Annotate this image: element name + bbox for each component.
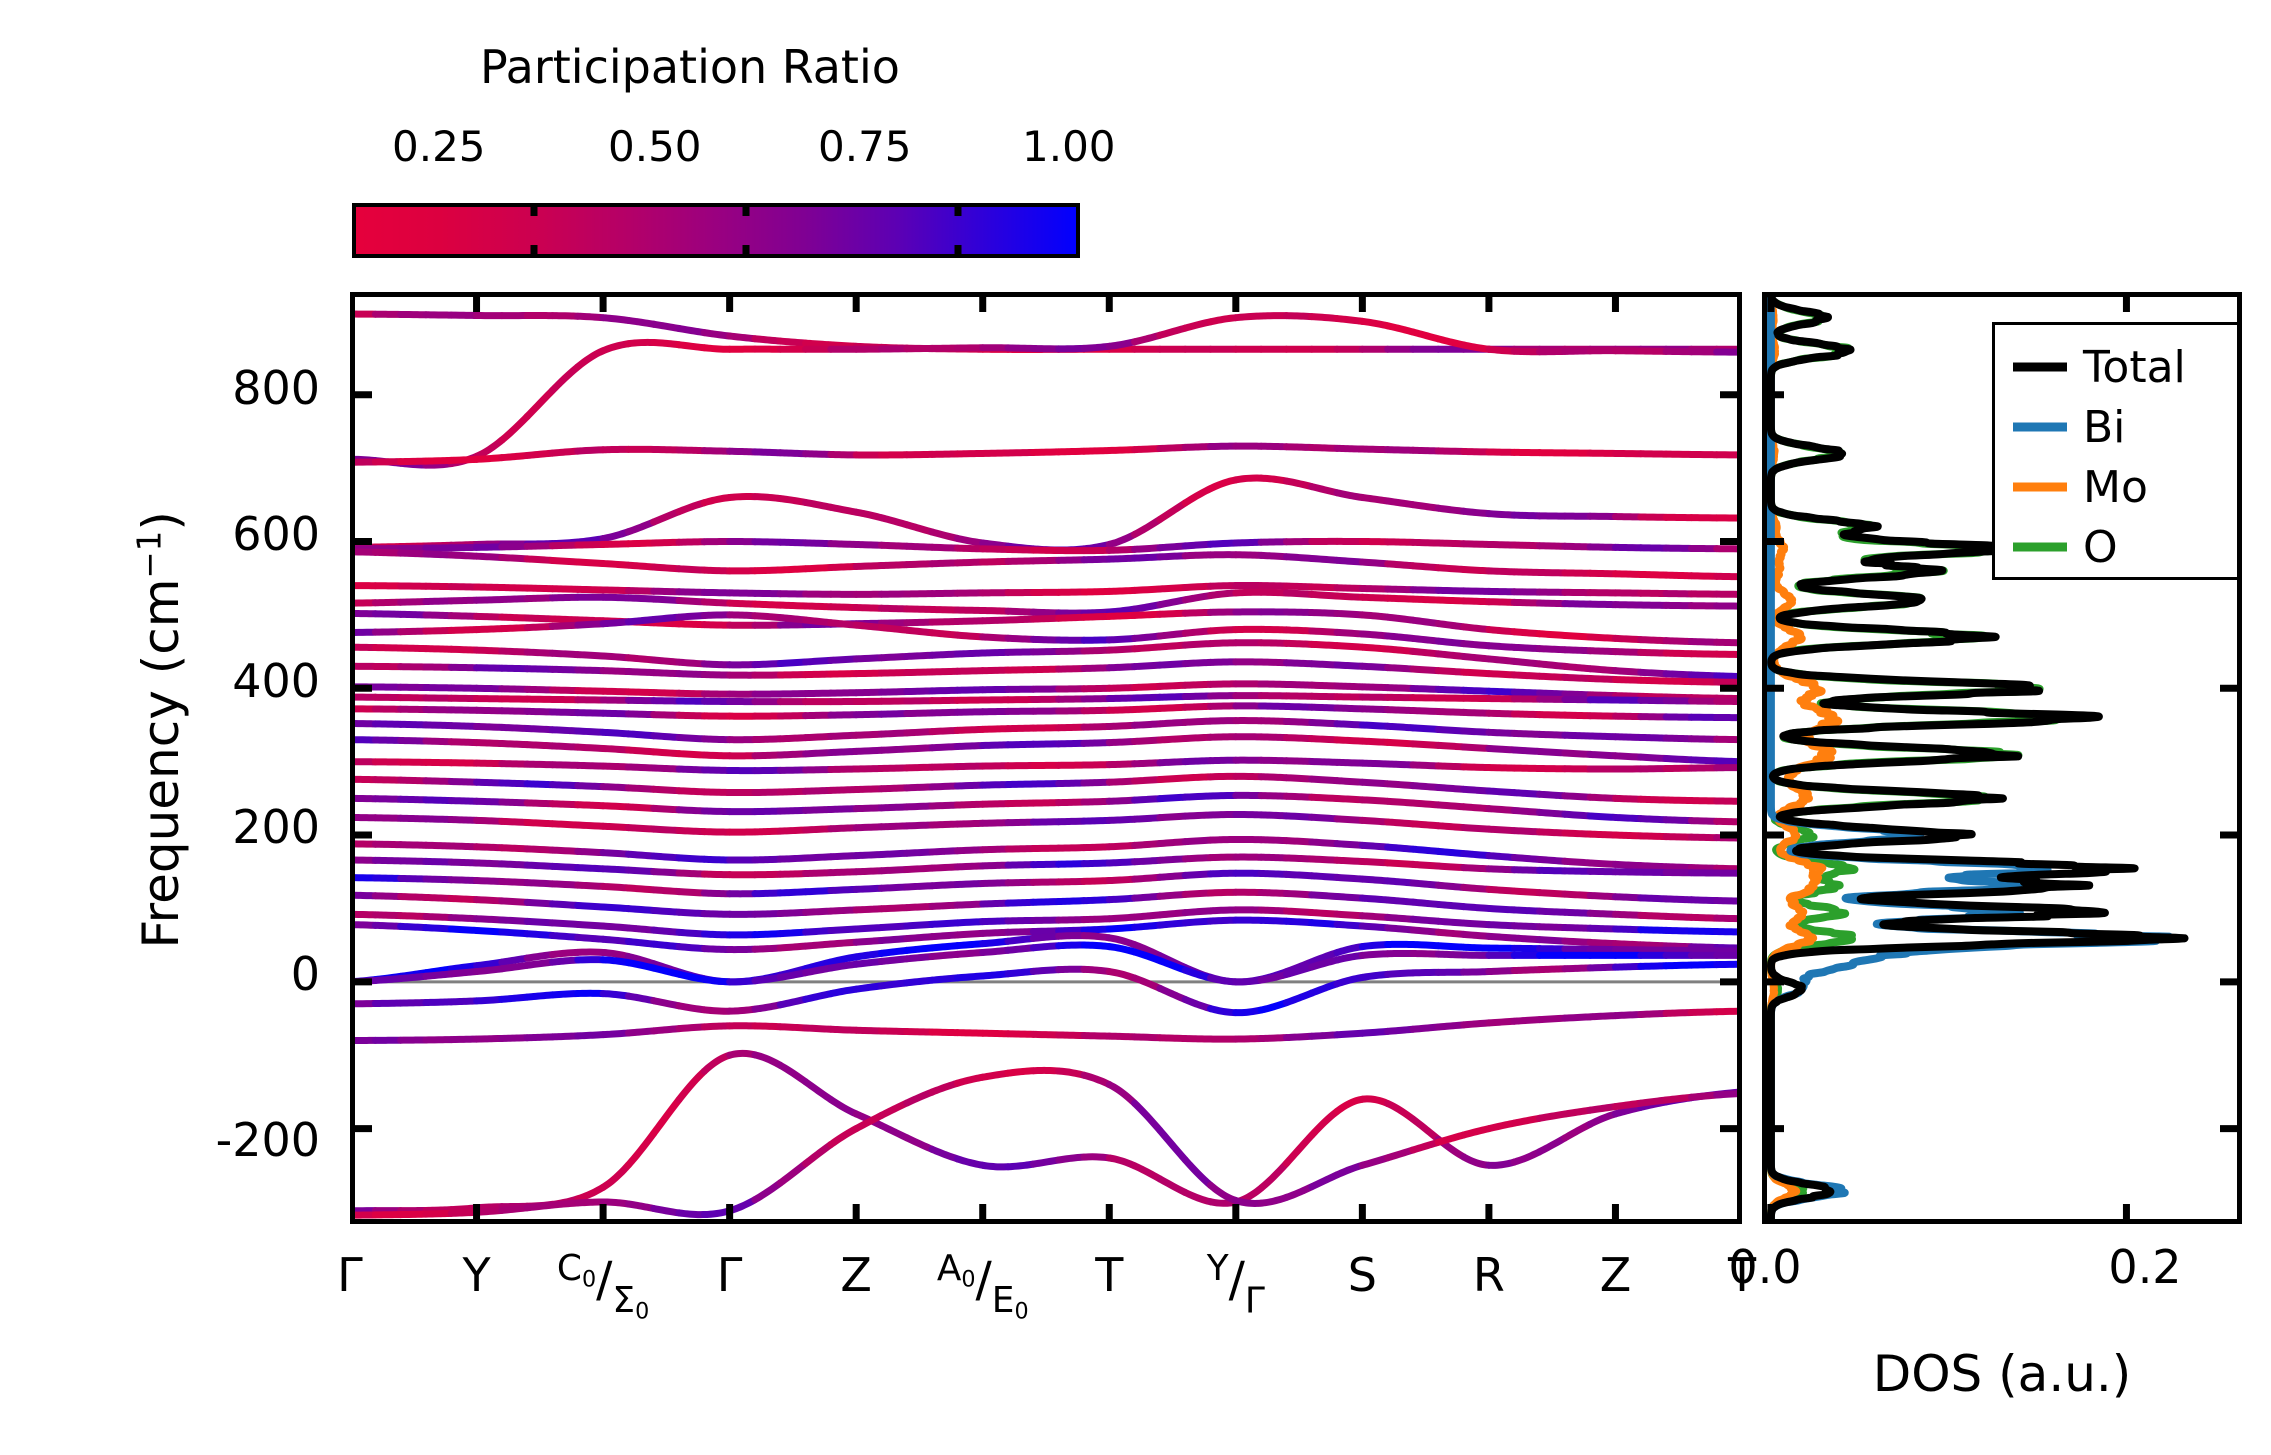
phonon-band-segment: [1059, 348, 1084, 349]
phonon-band-segment: [1489, 791, 1514, 793]
phonon-band-segment: [552, 451, 577, 453]
phonon-band-segment: [932, 1032, 957, 1033]
dos-x-tick-label-1: 0.2: [2060, 1240, 2230, 1294]
phonon-band-segment: [1286, 586, 1311, 587]
phonon-band-segment: [1388, 1104, 1413, 1120]
phonon-band-segment: [502, 783, 527, 784]
phonon-band-segment: [578, 562, 603, 564]
phonon-band-segment: [1084, 881, 1109, 882]
phonon-band-segment: [1286, 841, 1311, 842]
phonon-band-segment: [654, 829, 679, 830]
phonon-band-segment: [1109, 800, 1134, 801]
phonon-band-segment: [477, 458, 502, 460]
phonon-band-segment: [932, 610, 957, 611]
phonon-band-segment: [806, 809, 831, 810]
phonon-band-segment: [1362, 687, 1387, 688]
phonon-band-segment: [881, 950, 906, 953]
phonon-band-segment: [1615, 756, 1640, 757]
phonon-band-segment: [1109, 1158, 1134, 1166]
phonon-band-segment: [881, 749, 906, 750]
phonon-band-segment: [1464, 887, 1489, 889]
phonon-band-segment: [451, 862, 476, 863]
phonon-band-segment: [831, 872, 856, 873]
phonon-band-segment: [1362, 647, 1387, 649]
phonon-band-segment: [1084, 801, 1109, 802]
phonon-band-segment: [831, 989, 856, 993]
phonon-band-segment: [1109, 862, 1134, 863]
phonon-band-segment: [1033, 618, 1058, 619]
phonon-band-segment: [780, 932, 805, 933]
phonon-band-segment: [1489, 1021, 1514, 1023]
phonon-band-segment: [1337, 1033, 1362, 1035]
phonon-band-segment: [1666, 965, 1691, 966]
phonon-band-segment: [654, 324, 679, 328]
phonon-band-segment: [704, 874, 729, 875]
phonon-band-segment: [401, 740, 426, 741]
phonon-band-segment: [1185, 1039, 1210, 1040]
phonon-band-segment: [1312, 685, 1337, 686]
phonon-band-segment: [1261, 857, 1286, 858]
phonon-band-segment: [1641, 836, 1666, 837]
phonon-band-segment: [755, 452, 780, 453]
phonon-band-segment: [1008, 638, 1033, 639]
phonon-band-segment: [1185, 322, 1210, 328]
phonon-band-segment: [1540, 940, 1565, 941]
phonon-band-segment: [1438, 508, 1463, 511]
phonon-band-segment: [654, 768, 679, 769]
phonon-band-segment: [1160, 894, 1185, 896]
phonon-band-segment: [1388, 881, 1413, 883]
phonon-band-segment: [1438, 932, 1463, 934]
phonon-band-segment: [1514, 926, 1539, 927]
phonon-band-segment: [1590, 736, 1615, 737]
phonon-band-segment: [881, 983, 906, 986]
phonon-band-segment: [1033, 931, 1058, 932]
phonon-band-segment: [1084, 616, 1109, 617]
phonon-band-segment: [679, 791, 704, 792]
phonon-band-segment: [477, 1038, 502, 1039]
phonon-band-segment: [527, 955, 552, 959]
phonon-band-segment: [1666, 930, 1691, 931]
phonon-band-segment: [1059, 1157, 1084, 1160]
phonon-band-segment: [1464, 947, 1489, 948]
phonon-band-segment: [1388, 900, 1413, 902]
phonon-band-segment: [957, 653, 982, 654]
phonon-band-segment: [1464, 828, 1489, 830]
phonon-band-segment: [1615, 696, 1640, 697]
phonon-band-segment: [1565, 928, 1590, 929]
phonon-band-segment: [983, 561, 1008, 562]
phonon-band-segment: [1109, 917, 1134, 919]
phonon-band-segment: [1160, 645, 1185, 647]
phonon-band-segment: [426, 554, 451, 555]
phonon-band-segment: [1464, 868, 1489, 869]
phonon-band-segment: [679, 1027, 704, 1029]
phonon-band-segment: [856, 961, 881, 964]
phonon-band-segment: [983, 932, 1008, 933]
phonon-band-segment: [831, 942, 856, 944]
phonon-band-segment: [831, 544, 856, 545]
colorbar[interactable]: [352, 203, 1080, 258]
phonon-band-segment: [1413, 954, 1438, 955]
phonon-band-segment: [1514, 351, 1539, 352]
phonon-band-segment: [1312, 842, 1337, 844]
legend-item-mo[interactable]: Mo: [2009, 457, 2186, 517]
phonon-band-segment: [628, 658, 653, 660]
phonon-band-segment: [1109, 549, 1134, 550]
phonon-band-segment: [1565, 833, 1590, 834]
phonon-band-segment: [1514, 891, 1539, 893]
phonon-band-segment: [1438, 339, 1463, 345]
phonon-band-segment: [578, 589, 603, 590]
phonon-band-segment: [704, 811, 729, 812]
phonon-band-segment: [527, 902, 552, 904]
phonon-band-segment: [679, 674, 704, 675]
phonon-band-segment: [907, 948, 932, 951]
phonon-band-segment: [1059, 936, 1084, 937]
legend-item-bi[interactable]: Bi: [2009, 397, 2186, 457]
phonon-band-segment: [654, 872, 679, 873]
phonon-band-segment: [755, 913, 780, 914]
phonon-band-segment: [932, 851, 957, 852]
phonon-band-segment: [1590, 1107, 1615, 1111]
phonon-band-segment: [654, 660, 679, 662]
phonon-band-segment: [1084, 743, 1109, 744]
phonon-band-segment: [881, 959, 906, 962]
phonon-band-segment: [1109, 558, 1134, 559]
phonon-band-segment: [1008, 744, 1033, 745]
phonon-band-segment: [957, 766, 982, 767]
phonon-band-segment: [527, 669, 552, 670]
phonon-band-segment: [831, 607, 856, 608]
phonon-band-segment: [679, 912, 704, 913]
phonon-band-segment: [401, 916, 426, 917]
phonon-band-segment: [1160, 762, 1185, 763]
phonon-band-segment: [527, 745, 552, 746]
phonon-band-segment: [578, 655, 603, 656]
phonon-band-segment: [1438, 954, 1463, 955]
phonon-band-segment: [780, 618, 805, 620]
phonon-band-segment: [907, 622, 932, 623]
phonon-band-segment: [477, 629, 502, 630]
phonon-band-segment: [1008, 1071, 1033, 1073]
phonon-band-segment: [1135, 449, 1160, 450]
phonon-band-segment: [1362, 926, 1387, 928]
phonon-band-segment: [983, 1033, 1008, 1034]
phonon-band-segment: [704, 348, 729, 349]
phonon-band-segment: [1185, 893, 1210, 894]
phonon-band-segment: [831, 1129, 856, 1145]
phonon-band-segment: [1464, 923, 1489, 925]
phonon-band-segment: [1185, 721, 1210, 722]
phonon-band-segment: [628, 1031, 653, 1033]
phonon-band-segment: [856, 512, 881, 518]
phonon-band-segment: [1514, 733, 1539, 734]
phonon-band-segment: [1464, 712, 1489, 713]
phonon-band-segment: [654, 567, 679, 569]
phonon-band-segment: [1438, 826, 1463, 828]
phonon-band-segment: [1438, 568, 1463, 570]
phonon-band-segment: [907, 886, 932, 887]
phonon-band-segment: [1691, 900, 1716, 901]
phonon-band-segment: [1135, 877, 1160, 879]
phonon-band-segment: [1362, 898, 1387, 900]
phonon-band-segment: [1388, 688, 1413, 689]
phonon-band-segment: [1312, 1035, 1337, 1036]
phonon-band-segment: [1160, 816, 1185, 818]
phonon-band-segment: [1464, 627, 1489, 630]
phonon-band-segment: [1438, 766, 1463, 767]
phonon-band-segment: [1286, 874, 1311, 875]
phonon-band-segment: [1109, 927, 1134, 929]
phonon-band-segment: [1211, 593, 1236, 596]
phonon-band-segment: [1185, 840, 1210, 842]
phonon-band-segment: [1362, 861, 1387, 862]
phonon-band-segment: [679, 624, 704, 625]
band-structure-panel[interactable]: [350, 292, 1742, 1224]
phonon-band-segment: [603, 787, 628, 788]
phonon-band-segment: [780, 999, 805, 1005]
phonon-band-segment: [1286, 663, 1311, 664]
phonon-band-segment: [502, 821, 527, 822]
phonon-band-segment: [552, 765, 577, 766]
phonon-band-segment: [375, 896, 400, 897]
phonon-band-segment: [1286, 858, 1311, 859]
phonon-band-segment: [1540, 715, 1565, 716]
phonon-band-segment: [628, 807, 653, 808]
phonon-band-segment: [477, 820, 502, 821]
phonon-band-segment: [1084, 451, 1109, 452]
phonon-band-segment: [1590, 1016, 1615, 1017]
phonon-band-segment: [1388, 668, 1413, 669]
phonon-band-segment: [1489, 971, 1514, 972]
phonon-band-segment: [654, 736, 679, 738]
phonon-band-segment: [1261, 1038, 1286, 1039]
phonon-band-segment: [654, 343, 679, 345]
phonon-band-segment: [831, 751, 856, 752]
phonon-band-segment: [628, 714, 653, 715]
phonon-band-segment: [1337, 860, 1362, 861]
phonon-band-segment: [983, 974, 1008, 976]
dos-curve-mo: [1771, 292, 1838, 1224]
phonon-band-segment: [1388, 928, 1413, 930]
phonon-band-segment: [375, 614, 400, 615]
phonon-band-segment: [1059, 727, 1084, 728]
phonon-band-segment: [502, 689, 527, 690]
phonon-band-segment: [1135, 799, 1160, 800]
phonon-band-segment: [1008, 561, 1033, 562]
phonon-band-segment: [1615, 944, 1640, 945]
phonon-band-segment: [704, 1211, 729, 1215]
phonon-band-segment: [1413, 765, 1438, 766]
phonon-band-segment: [654, 449, 679, 450]
legend-label-mo: Mo: [2083, 462, 2148, 513]
phonon-band-segment: [1362, 321, 1387, 325]
phonon-band-segment: [957, 729, 982, 730]
phonon-band-segment: [932, 923, 957, 924]
phonon-band-segment: [1185, 544, 1210, 546]
phonon-band-segment: [527, 652, 552, 653]
phonon-band-segment: [932, 633, 957, 635]
phonon-band-segment: [603, 960, 628, 963]
phonon-band-segment: [755, 616, 780, 618]
phonon-band-segment: [881, 628, 906, 631]
phonon-band-segment: [806, 930, 831, 932]
phonon-band-segment: [628, 870, 653, 871]
phonon-band-segment: [451, 820, 476, 821]
phonon-band-segment: [1641, 819, 1666, 820]
phonon-band-segment: [1641, 866, 1666, 867]
phonon-band-segment: [1413, 688, 1438, 689]
phonon-band-segment: [1337, 319, 1362, 322]
phonon-band-segment: [1362, 449, 1387, 450]
phonon-band-segment: [1641, 930, 1666, 931]
phonon-band-segment: [1185, 596, 1210, 600]
phonon-band-segment: [1438, 729, 1463, 731]
phonon-band-segment: [1033, 1070, 1058, 1071]
phonon-band-segment: [1362, 666, 1387, 667]
phonon-band-segment: [1590, 651, 1615, 652]
phonon-band-segment: [1109, 879, 1134, 880]
phonon-band-segment: [1514, 793, 1539, 795]
phonon-band-segment: [932, 767, 957, 768]
phonon-band-segment: [1388, 617, 1413, 620]
phonon-band-segment: [1362, 820, 1387, 822]
phonon-band-segment: [679, 503, 704, 512]
phonon-band-segment: [1160, 859, 1185, 860]
phonon-band-segment: [628, 928, 653, 930]
phonon-band-segment: [831, 507, 856, 512]
phonon-band-segment: [1211, 1009, 1236, 1013]
phonon-band-segment: [628, 522, 653, 532]
phonon-band-segment: [477, 919, 502, 920]
phonon-band-segment: [1185, 696, 1210, 697]
phonon-band-segment: [1160, 797, 1185, 798]
phonon-band-segment: [502, 997, 527, 999]
phonon-band-segment: [1489, 748, 1514, 749]
phonon-band-segment: [1059, 802, 1084, 803]
phonon-band-segment: [730, 497, 755, 498]
phonon-band-segment: [1059, 1071, 1084, 1075]
phonon-band-segment: [856, 734, 881, 735]
legend-item-total[interactable]: Total: [2009, 337, 2186, 397]
phonon-band-segment: [907, 924, 932, 926]
phonon-band-segment: [1109, 725, 1134, 726]
phonon-band-segment: [856, 658, 881, 659]
phonon-band-segment: [831, 828, 856, 829]
phonon-band-segment: [679, 769, 704, 770]
phonon-band-segment: [451, 1001, 476, 1002]
phonon-band-segment: [502, 901, 527, 902]
phonon-band-segment: [426, 819, 451, 820]
phonon-band-segment: [856, 909, 881, 910]
phonon-band-segment: [527, 962, 552, 965]
phonon-band-segment: [932, 885, 957, 886]
phonon-band-segment: [679, 873, 704, 874]
phonon-band-segment: [1135, 647, 1160, 649]
phonon-band-segment: [1438, 745, 1463, 747]
phonon-band-segment: [451, 918, 476, 919]
phonon-band-segment: [957, 562, 982, 563]
phonon-band-segment: [426, 615, 451, 616]
phonon-band-segment: [1413, 919, 1438, 921]
phonon-band-segment: [578, 450, 603, 451]
phonon-band-segment: [1438, 851, 1463, 853]
phonon-band-segment: [1540, 870, 1565, 871]
phonon-band-segment: [477, 726, 502, 727]
phonon-band-segment: [1261, 796, 1286, 797]
phonon-band-segment: [1464, 767, 1489, 768]
phonon-band-segment: [704, 1055, 729, 1071]
phonon-band-segment: [527, 995, 552, 997]
phonon-band-segment: [1312, 723, 1337, 724]
legend-item-o[interactable]: O: [2009, 517, 2186, 577]
phonon-band-segment: [932, 978, 957, 980]
phonon-band-segment: [1388, 726, 1413, 728]
phonon-band-segment: [932, 935, 957, 937]
phonon-band-segment: [502, 764, 527, 765]
phonon-band-segment: [1413, 803, 1438, 805]
phonon-band-segment: [1337, 613, 1362, 614]
phonon-band-segment: [1413, 864, 1438, 866]
phonon-band-segment: [932, 805, 957, 806]
phonon-band-segment: [831, 735, 856, 736]
phonon-band-segment: [628, 788, 653, 789]
phonon-band-segment: [1185, 644, 1210, 646]
phonon-band-segment: [603, 318, 628, 321]
phonon-band-segment: [1109, 845, 1134, 846]
phonon-band-segment: [1489, 602, 1514, 603]
phonon-band-segment: [1337, 914, 1362, 916]
phonon-band-segment: [1514, 602, 1539, 603]
phonon-band-segment: [1337, 560, 1362, 562]
phonon-band-segment: [1337, 799, 1362, 800]
phonon-band-segment: [628, 996, 653, 1001]
phonon-band-segment: [1261, 910, 1286, 911]
dos-legend[interactable]: Total Bi Mo O: [1992, 322, 2240, 580]
phonon-band-segment: [856, 928, 881, 929]
phonon-band-segment: [1135, 708, 1160, 709]
phonon-band-segment: [1084, 650, 1109, 651]
phonon-band-segment: [983, 785, 1008, 786]
phonon-band-segment: [1464, 644, 1489, 646]
phonon-band-segment: [1641, 672, 1666, 673]
phonon-band-segment: [1540, 546, 1565, 547]
phonon-band-segment: [375, 780, 400, 781]
phonon-band-segment: [603, 939, 628, 941]
phonon-band-segment: [1615, 574, 1640, 575]
phonon-band-segment: [831, 790, 856, 791]
phonon-band-segment: [1540, 859, 1565, 861]
phonon-band-segment: [502, 932, 527, 934]
phonon-band-segment: [1489, 571, 1514, 572]
phonon-band-segment: [1438, 885, 1463, 887]
phonon-band-segment: [527, 390, 552, 416]
band-panel-frame: [350, 292, 1742, 1224]
phonon-band-segment: [552, 952, 577, 954]
phonon-band-segment: [1337, 448, 1362, 449]
phonon-band-segment: [1489, 1162, 1514, 1165]
phonon-band-segment: [1464, 1157, 1489, 1165]
phonon-band-segment: [1514, 675, 1539, 676]
phonon-band-segment: [1286, 796, 1311, 797]
phonon-band-segment: [704, 497, 729, 502]
phonon-band-segment: [907, 767, 932, 768]
phonon-band-segment: [907, 806, 932, 807]
phonon-band-segment: [603, 1202, 628, 1204]
phonon-band-dos-figure: Participation Ratio 0.25 0.50 0.75 1.00: [0, 0, 2271, 1455]
phonon-band-segment: [1641, 1013, 1666, 1014]
